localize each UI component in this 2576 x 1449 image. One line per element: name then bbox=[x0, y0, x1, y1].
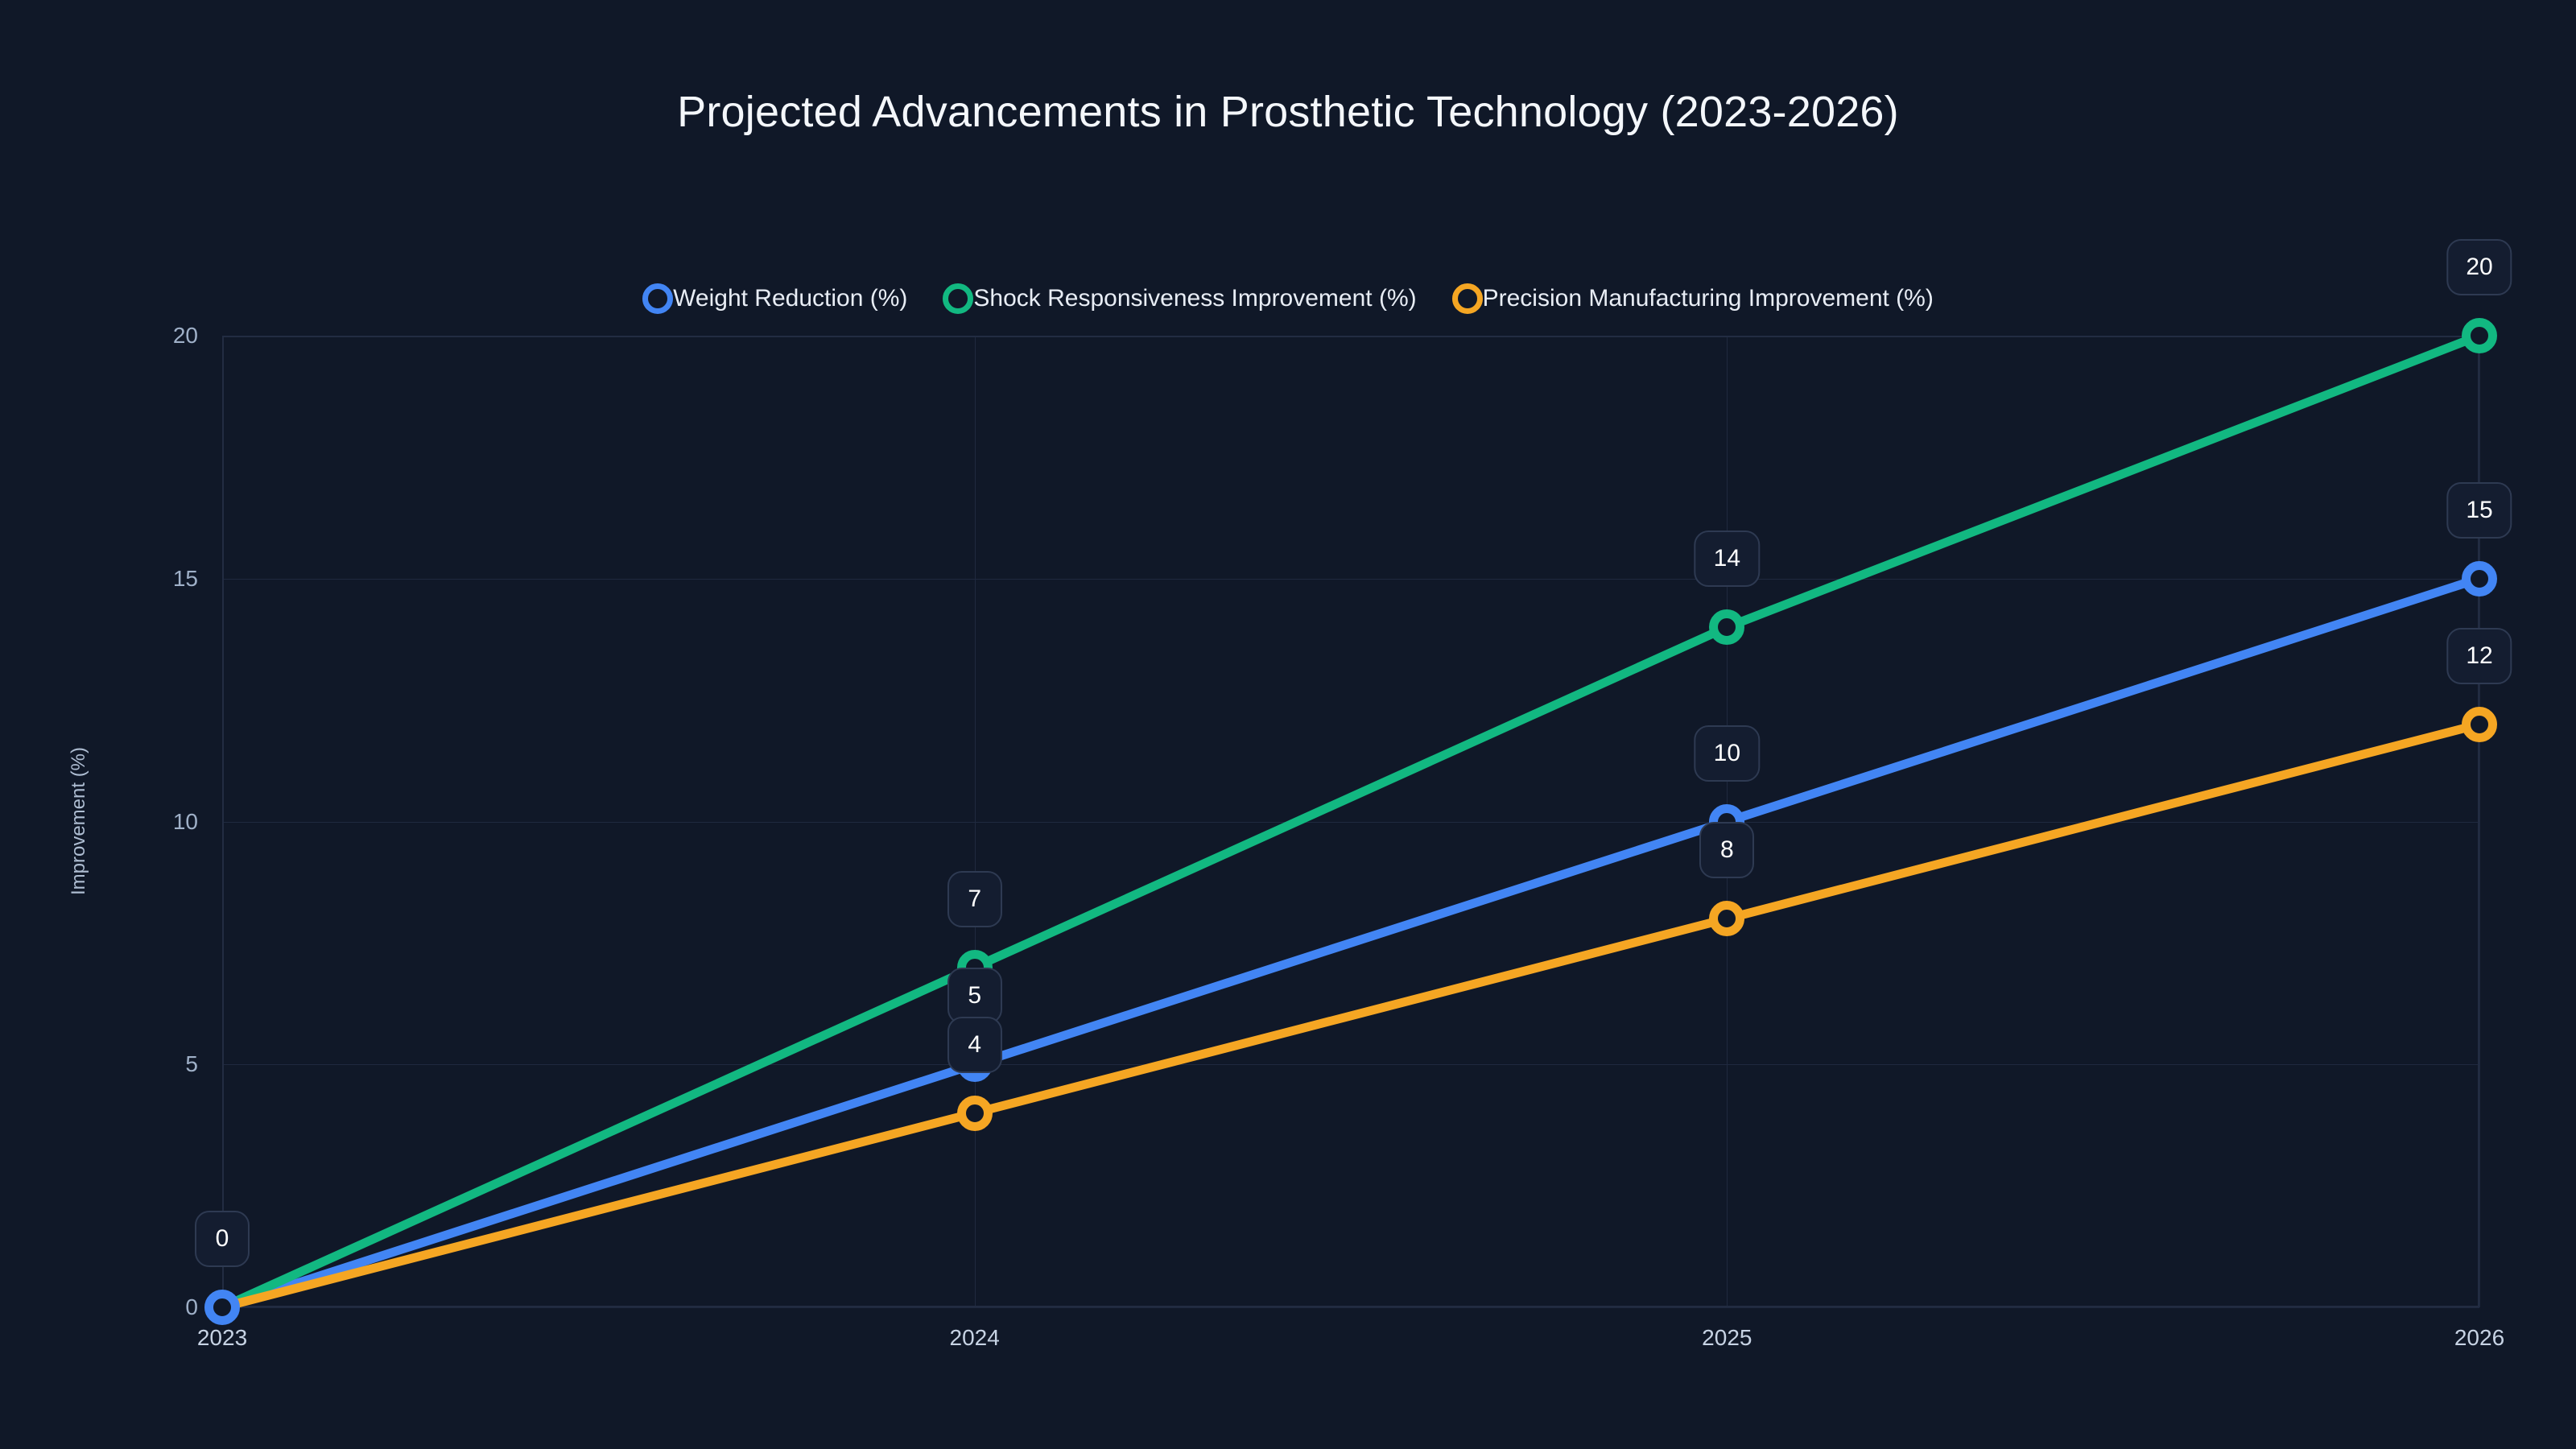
gridline-horizontal bbox=[222, 1307, 2479, 1308]
y-axis-tick-label: 5 bbox=[185, 1051, 198, 1077]
chart-legend: Weight Reduction (%) Shock Responsivenes… bbox=[0, 283, 2576, 314]
chart-canvas: Projected Advancements in Prosthetic Tec… bbox=[0, 0, 2576, 1449]
y-axis-tick-label: 0 bbox=[185, 1294, 198, 1320]
data-point-label: 20 bbox=[2446, 239, 2512, 295]
series-line bbox=[222, 724, 2479, 1307]
x-axis-tick-label: 2026 bbox=[2454, 1325, 2504, 1351]
y-axis-tick-label: 10 bbox=[173, 809, 198, 835]
series-line bbox=[222, 336, 2479, 1307]
page-title: Projected Advancements in Prosthetic Tec… bbox=[0, 87, 2576, 137]
legend-label: Weight Reduction (%) bbox=[673, 287, 907, 311]
x-axis-tick-label: 2025 bbox=[1702, 1325, 1752, 1351]
legend-marker-circle-icon bbox=[642, 283, 673, 314]
legend-item-weight-reduction[interactable]: Weight Reduction (%) bbox=[642, 283, 907, 314]
data-point-marker[interactable] bbox=[204, 1290, 240, 1325]
data-point-marker[interactable] bbox=[1709, 609, 1744, 645]
data-point-marker[interactable] bbox=[2462, 707, 2497, 742]
data-point-label: 15 bbox=[2446, 482, 2512, 539]
legend-label: Precision Manufacturing Improvement (%) bbox=[1483, 287, 1934, 311]
data-point-label: 4 bbox=[947, 1017, 1002, 1073]
series-line bbox=[222, 579, 2479, 1307]
legend-marker-circle-icon bbox=[1452, 283, 1483, 314]
legend-item-shock-responsiveness[interactable]: Shock Responsiveness Improvement (%) bbox=[943, 283, 1416, 314]
data-point-label: 0 bbox=[195, 1211, 250, 1267]
y-axis-tick-label: 15 bbox=[173, 566, 198, 592]
data-point-marker[interactable] bbox=[2462, 318, 2497, 353]
y-axis-tick-label: 20 bbox=[173, 323, 198, 349]
legend-item-precision-manufacturing[interactable]: Precision Manufacturing Improvement (%) bbox=[1452, 283, 1934, 314]
data-point-label: 14 bbox=[1695, 530, 1760, 587]
legend-marker-circle-icon bbox=[943, 283, 973, 314]
x-axis-tick-label: 2024 bbox=[950, 1325, 1000, 1351]
series-lines bbox=[222, 336, 2479, 1307]
data-point-label: 12 bbox=[2446, 628, 2512, 684]
data-point-label: 7 bbox=[947, 871, 1002, 927]
y-axis-title: Improvement (%) bbox=[68, 747, 90, 895]
data-point-marker[interactable] bbox=[2462, 561, 2497, 597]
plot-area: 051015714204812 bbox=[222, 336, 2479, 1307]
legend-label: Shock Responsiveness Improvement (%) bbox=[973, 287, 1416, 311]
data-point-marker[interactable] bbox=[1709, 901, 1744, 936]
data-point-label: 8 bbox=[1699, 822, 1754, 878]
data-point-label: 10 bbox=[1695, 725, 1760, 782]
x-axis-tick-label: 2023 bbox=[197, 1325, 247, 1351]
data-point-marker[interactable] bbox=[957, 1096, 993, 1131]
